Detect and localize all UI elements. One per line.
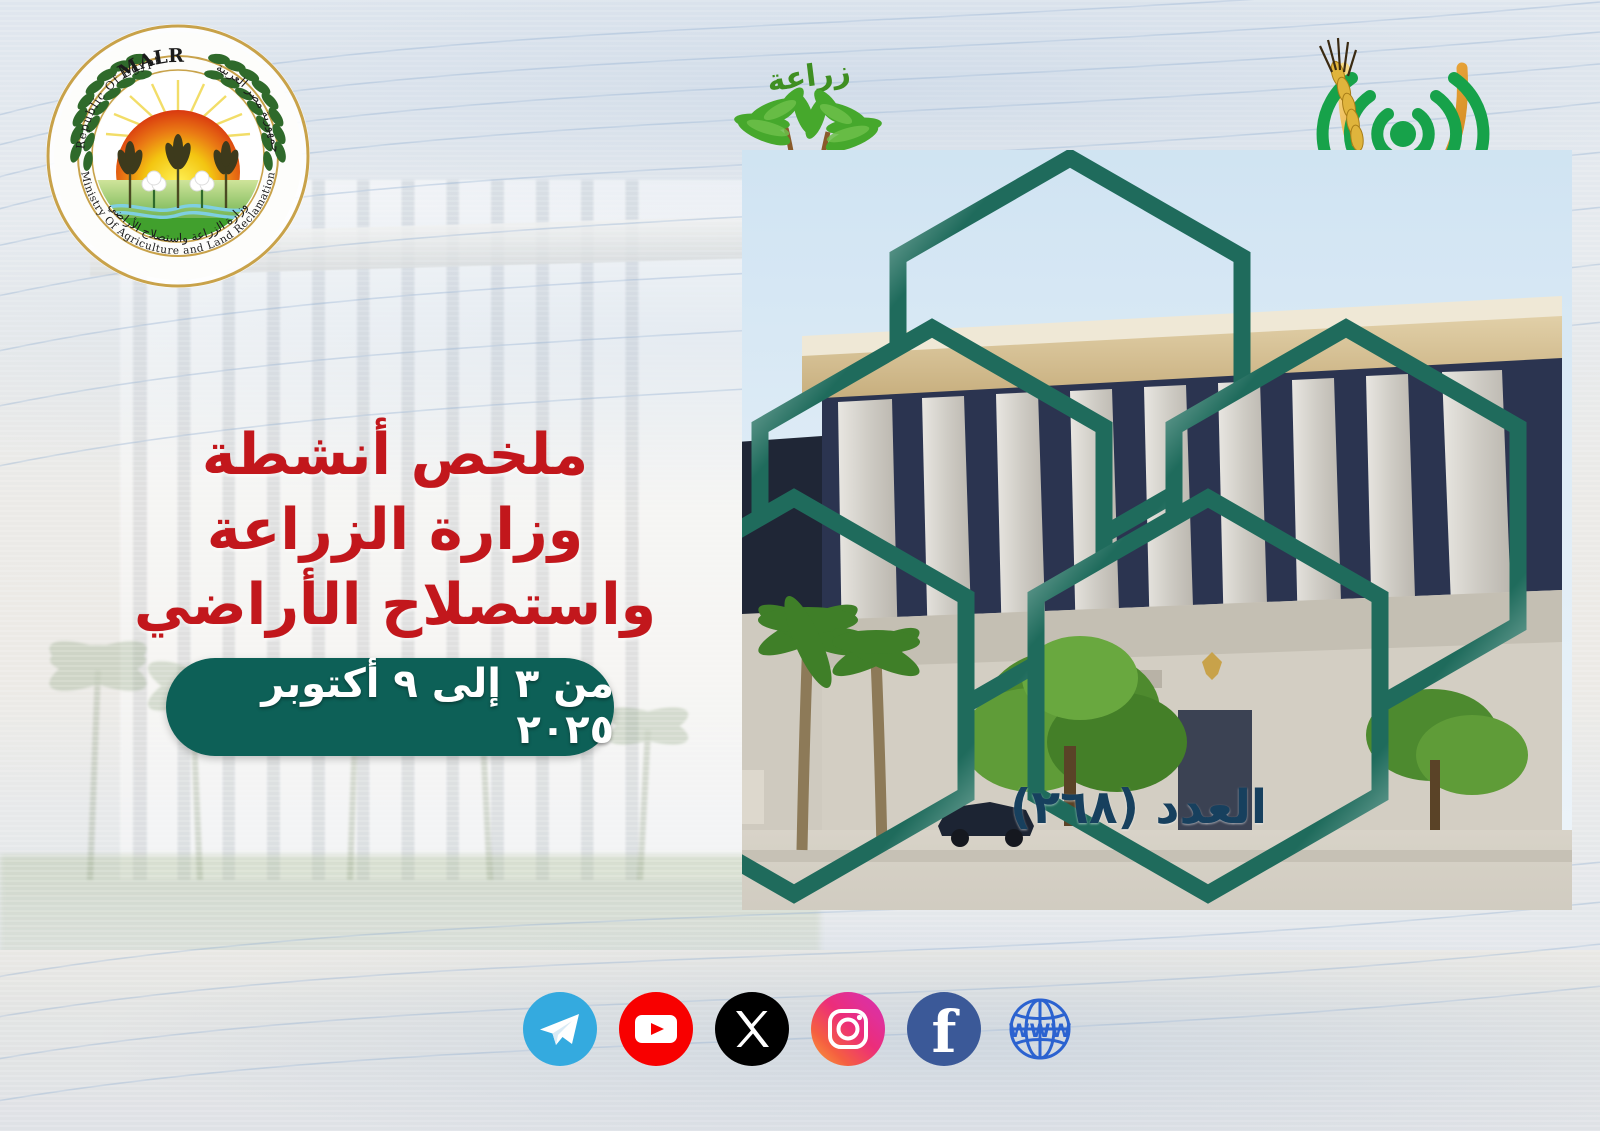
x-glyph: [715, 992, 789, 1066]
youtube-glyph: [619, 992, 693, 1066]
website-icon-label: WWW: [1009, 1020, 1072, 1042]
social-links-bar: WWW f: [0, 992, 1600, 1066]
facebook-icon[interactable]: f: [907, 992, 981, 1066]
page-title: ملخص أنشطة وزارة الزراعة واستصلاح الأراض…: [115, 418, 675, 644]
title-line-2: واستصلاح الأراضي: [115, 568, 675, 643]
instagram-glyph: [811, 992, 885, 1066]
telegram-glyph: [523, 992, 597, 1066]
title-line-1: ملخص أنشطة وزارة الزراعة: [202, 422, 588, 563]
globe-icon: WWW: [1003, 992, 1077, 1066]
facebook-icon-glyph: f: [932, 1009, 957, 1057]
poster-canvas: MALR Arab Republic Of Egypt جمهورية مصر …: [0, 0, 1600, 1131]
website-icon[interactable]: WWW: [1003, 992, 1077, 1066]
youtube-icon[interactable]: [619, 992, 693, 1066]
telegram-icon[interactable]: [523, 992, 597, 1066]
week-logo-top-word: زراعة: [765, 54, 852, 99]
malr-emblem: MALR Arab Republic Of Egypt جمهورية مصر …: [44, 22, 312, 290]
x-twitter-icon[interactable]: [715, 992, 789, 1066]
date-range-badge: من ٣ إلى ٩ أكتوبر ٢٠٢٥: [166, 658, 614, 756]
instagram-icon[interactable]: [811, 992, 885, 1066]
issue-number: العدد (٢٦٨): [1010, 780, 1267, 835]
date-range-label: من ٣ إلى ٩ أكتوبر ٢٠٢٥: [166, 661, 614, 753]
